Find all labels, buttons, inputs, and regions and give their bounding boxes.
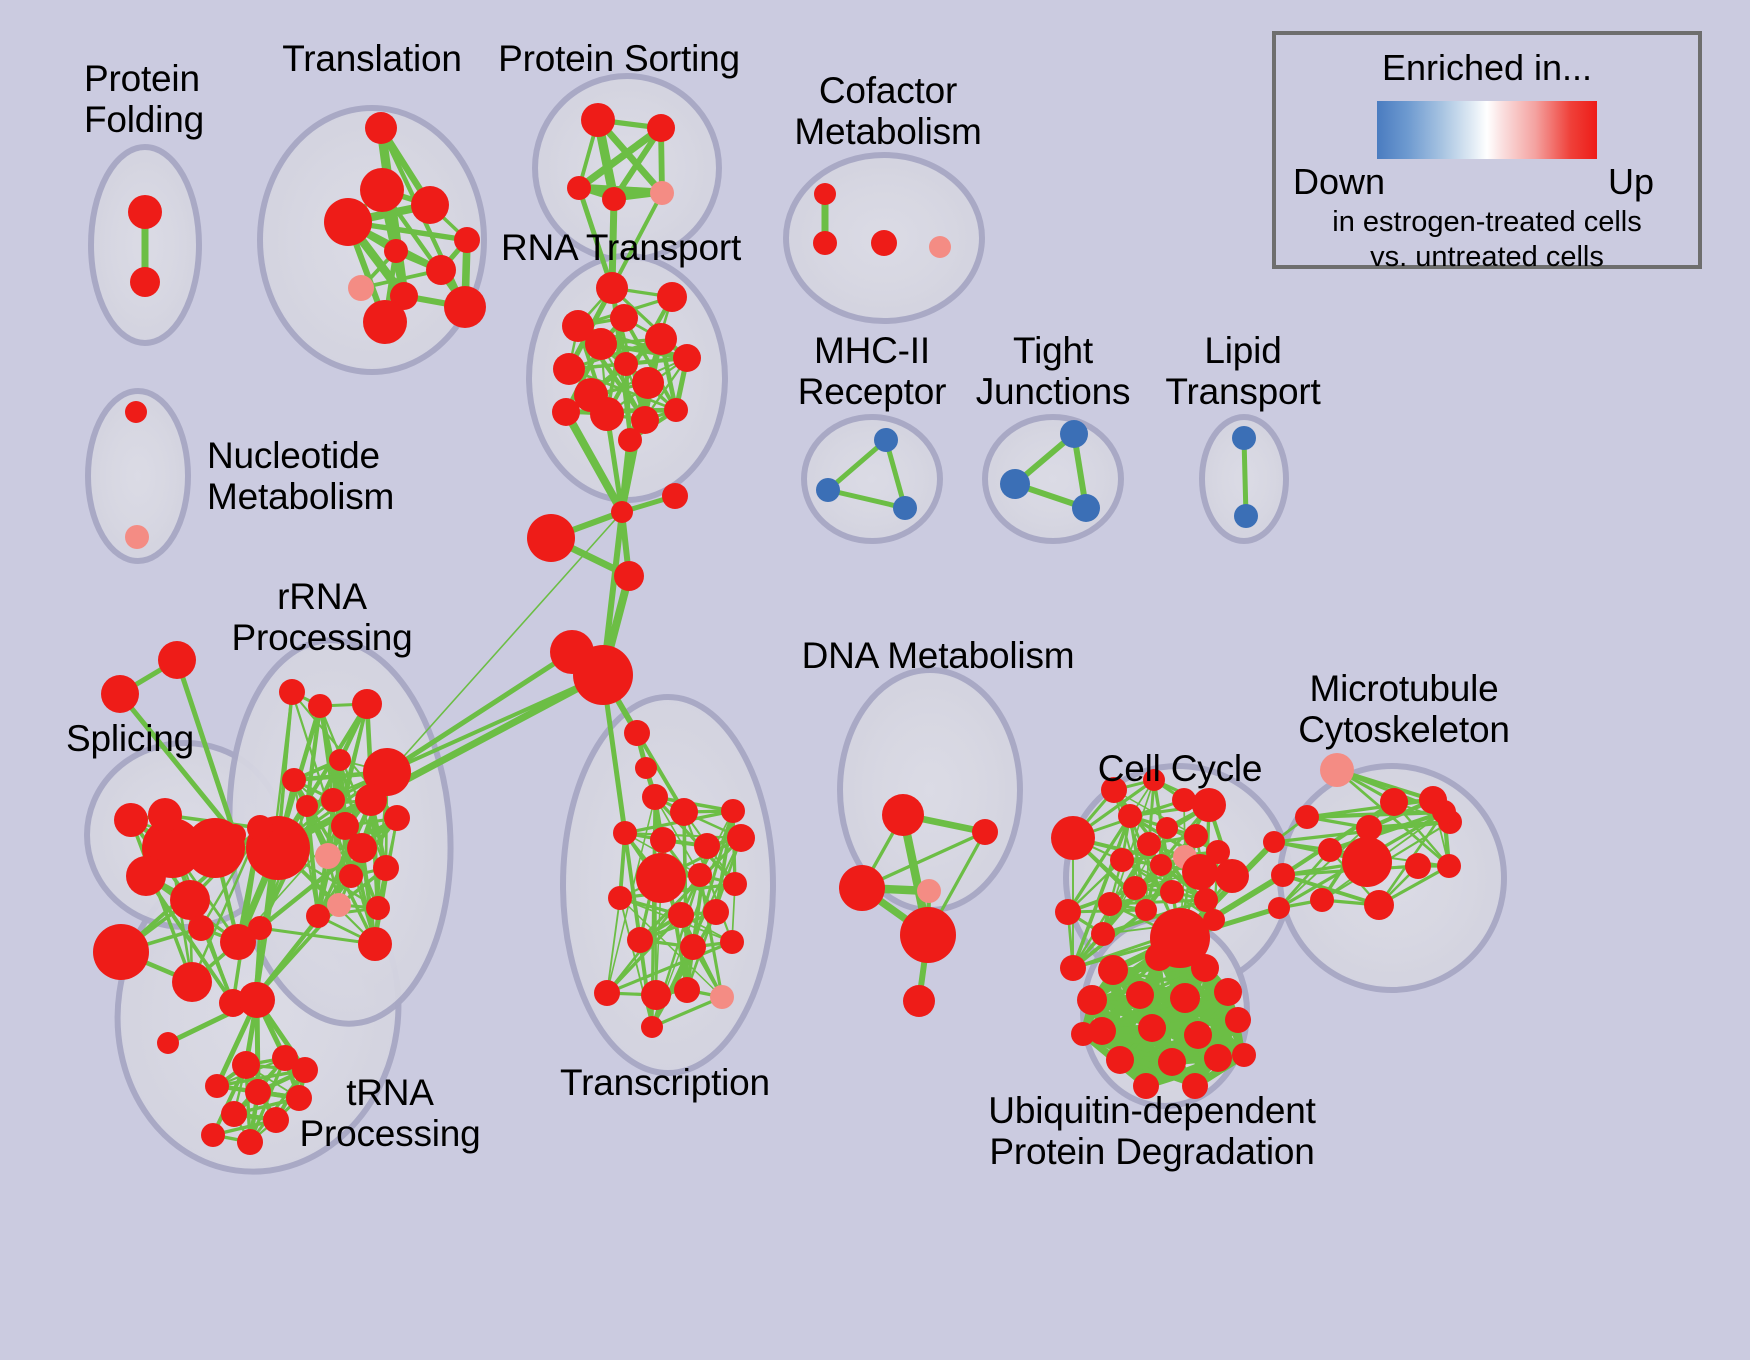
network-node	[1160, 880, 1184, 904]
cluster-label-rna-transport: RNA Transport	[501, 227, 741, 268]
legend-panel: Enriched in... Down Up in estrogen-treat…	[1272, 31, 1702, 269]
network-node	[1091, 922, 1115, 946]
network-node	[552, 398, 580, 426]
network-node	[635, 757, 657, 779]
network-node	[1072, 494, 1100, 522]
network-node	[130, 267, 160, 297]
network-node	[1263, 831, 1285, 853]
network-node	[308, 694, 332, 718]
network-node	[608, 886, 632, 910]
network-node	[220, 924, 256, 960]
network-node	[647, 114, 675, 142]
cluster-label-rrna-processing: rRNA Processing	[231, 576, 412, 659]
network-node	[1192, 788, 1226, 822]
network-node	[585, 328, 617, 360]
network-node	[454, 227, 480, 253]
network-node	[1342, 837, 1392, 887]
network-node	[279, 679, 305, 705]
network-node	[1145, 943, 1173, 971]
network-node	[668, 902, 694, 928]
network-node	[373, 855, 399, 881]
network-node	[329, 749, 351, 771]
network-node	[237, 1129, 263, 1155]
network-node	[114, 803, 148, 837]
network-node	[1225, 1007, 1251, 1033]
cluster-label-cofactor-metabolism: Cofactor Metabolism	[794, 70, 981, 153]
network-node	[282, 768, 306, 792]
network-node	[636, 853, 686, 903]
network-node	[694, 833, 720, 859]
network-node	[553, 353, 585, 385]
network-node	[1271, 863, 1295, 887]
network-node	[596, 272, 628, 304]
network-node	[1437, 854, 1461, 878]
network-node	[1106, 1046, 1134, 1074]
network-node	[594, 980, 620, 1006]
network-node	[188, 915, 214, 941]
network-node	[1184, 824, 1208, 848]
network-node	[1158, 1048, 1186, 1076]
network-node	[1071, 1022, 1095, 1046]
network-node	[224, 824, 246, 846]
network-node	[929, 236, 951, 258]
network-node	[721, 799, 745, 823]
network-node	[674, 977, 700, 1003]
network-node	[645, 323, 677, 355]
network-node	[1118, 804, 1142, 828]
network-node	[1232, 426, 1256, 450]
network-node	[170, 880, 210, 920]
network-node	[871, 230, 897, 256]
network-node	[650, 827, 676, 853]
network-node	[157, 1032, 179, 1054]
network-node	[360, 168, 404, 212]
network-node	[1098, 955, 1128, 985]
network-node	[720, 930, 744, 954]
network-node	[723, 872, 747, 896]
network-node	[673, 344, 701, 372]
enrichment-map-figure: Protein FoldingTranslationProtein Sortin…	[0, 0, 1750, 1360]
network-node	[148, 798, 182, 832]
network-node	[1380, 788, 1408, 816]
network-node	[355, 784, 387, 816]
network-node	[627, 927, 653, 953]
network-node	[972, 819, 998, 845]
network-node	[1098, 892, 1122, 916]
network-node	[1051, 816, 1095, 860]
network-node	[641, 980, 671, 1010]
network-node	[1156, 817, 1178, 839]
network-node	[1295, 805, 1319, 829]
network-node	[1204, 1044, 1232, 1072]
network-node	[1077, 985, 1107, 1015]
network-node	[1060, 955, 1086, 981]
network-node	[1126, 981, 1154, 1009]
network-node	[1000, 469, 1030, 499]
cluster-label-mhc-ii-receptor: MHC-II Receptor	[798, 330, 947, 413]
cluster-label-lipid-transport: Lipid Transport	[1165, 330, 1320, 413]
network-node	[641, 1016, 663, 1038]
network-node	[352, 689, 382, 719]
network-node	[882, 794, 924, 836]
network-node	[363, 300, 407, 344]
network-node	[158, 641, 196, 679]
network-node	[1203, 909, 1225, 931]
legend-endpoints: Down Up	[1276, 161, 1698, 205]
network-node	[358, 927, 392, 961]
network-node	[221, 1101, 247, 1127]
network-node	[384, 239, 408, 263]
network-node	[816, 478, 840, 502]
network-node	[814, 183, 836, 205]
network-node	[662, 483, 688, 509]
network-node	[573, 645, 633, 705]
network-node	[1194, 888, 1218, 912]
network-node	[893, 496, 917, 520]
network-node	[245, 1079, 271, 1105]
network-node	[296, 795, 318, 817]
cluster-label-tight-junctions: Tight Junctions	[976, 330, 1131, 413]
legend-caption-line-2: vs. untreated cells	[1276, 240, 1698, 275]
network-node	[813, 231, 837, 255]
cluster-label-protein-folding: Protein Folding	[84, 58, 204, 141]
network-node	[611, 501, 633, 523]
network-node	[1318, 838, 1342, 862]
network-node	[710, 985, 734, 1009]
cluster-label-nucleotide-metabolism: Nucleotide Metabolism	[207, 435, 394, 518]
network-node	[624, 720, 650, 746]
network-node	[1110, 848, 1134, 872]
network-node	[1191, 954, 1219, 982]
network-node	[321, 788, 345, 812]
legend-caption-line-1: in estrogen-treated cells	[1276, 205, 1698, 240]
network-node	[657, 282, 687, 312]
cluster-label-translation: Translation	[282, 38, 461, 79]
network-node	[128, 195, 162, 229]
network-node	[703, 899, 729, 925]
network-node	[903, 985, 935, 1017]
legend-color-gradient-bar	[1377, 101, 1597, 159]
network-node	[1060, 420, 1088, 448]
network-node	[688, 863, 712, 887]
network-node	[1214, 978, 1242, 1006]
network-node	[411, 186, 449, 224]
network-node	[900, 907, 956, 963]
network-node	[527, 514, 575, 562]
network-node	[614, 352, 638, 376]
network-node	[1432, 800, 1456, 824]
network-node	[327, 893, 351, 917]
network-node	[347, 833, 377, 863]
network-node	[263, 1107, 289, 1133]
network-node	[101, 675, 139, 713]
network-node	[1234, 504, 1258, 528]
network-node	[1055, 899, 1081, 925]
network-node	[384, 805, 410, 831]
network-node	[125, 525, 149, 549]
network-node	[247, 815, 273, 841]
network-node	[125, 401, 147, 423]
network-node	[1135, 899, 1157, 921]
cluster-label-dna-metabolism: DNA Metabolism	[802, 635, 1075, 676]
network-node	[602, 187, 626, 211]
cluster-label-protein-sorting: Protein Sorting	[498, 38, 740, 79]
network-node	[590, 397, 624, 431]
network-node	[1123, 876, 1147, 900]
network-node	[632, 367, 664, 399]
network-node	[201, 1123, 225, 1147]
network-node	[1268, 897, 1290, 919]
network-node	[1170, 983, 1200, 1013]
network-node	[642, 784, 668, 810]
network-node	[839, 865, 885, 911]
network-node	[1320, 753, 1354, 787]
network-node	[93, 924, 149, 980]
network-node	[613, 821, 637, 845]
network-node	[444, 286, 486, 328]
cluster-label-microtubule-cytoskeleton: Microtubule Cytoskeleton	[1298, 668, 1510, 751]
network-node	[1150, 854, 1172, 876]
legend-down-label: Down	[1293, 161, 1385, 203]
network-node	[618, 428, 642, 452]
network-node	[1138, 1014, 1166, 1042]
network-node	[315, 843, 341, 869]
network-node	[172, 962, 212, 1002]
cluster-label-trna-processing: tRNA Processing	[299, 1072, 480, 1155]
network-node	[874, 428, 898, 452]
cluster-label-transcription: Transcription	[560, 1062, 770, 1103]
network-node	[232, 1051, 260, 1079]
network-node	[610, 304, 638, 332]
network-node	[1310, 888, 1334, 912]
network-node	[324, 198, 372, 246]
network-node	[567, 176, 591, 200]
network-node	[1182, 854, 1218, 890]
network-node	[917, 879, 941, 903]
network-node	[366, 896, 390, 920]
cluster-label-cell-cycle: Cell Cycle	[1098, 748, 1263, 789]
network-node	[426, 255, 456, 285]
network-node	[680, 934, 706, 960]
network-node	[664, 398, 688, 422]
network-node	[581, 103, 615, 137]
network-node	[1184, 1021, 1212, 1049]
network-node	[614, 561, 644, 591]
network-node	[239, 982, 275, 1018]
network-node	[306, 904, 330, 928]
cluster-label-ubiquitin-degradation: Ubiquitin-dependent Protein Degradation	[988, 1090, 1315, 1173]
network-node	[1137, 832, 1161, 856]
network-node	[650, 181, 674, 205]
network-node	[1364, 890, 1394, 920]
network-node	[1232, 1043, 1256, 1067]
network-node	[348, 275, 374, 301]
legend-title: Enriched in...	[1276, 47, 1698, 89]
cluster-label-splicing: Splicing	[66, 718, 194, 759]
network-node	[126, 856, 166, 896]
network-node	[670, 798, 698, 826]
network-node	[339, 864, 363, 888]
network-node	[727, 824, 755, 852]
legend-up-label: Up	[1608, 161, 1654, 203]
network-node	[205, 1074, 229, 1098]
network-node	[365, 112, 397, 144]
network-node	[1405, 853, 1431, 879]
network-node	[1215, 859, 1249, 893]
